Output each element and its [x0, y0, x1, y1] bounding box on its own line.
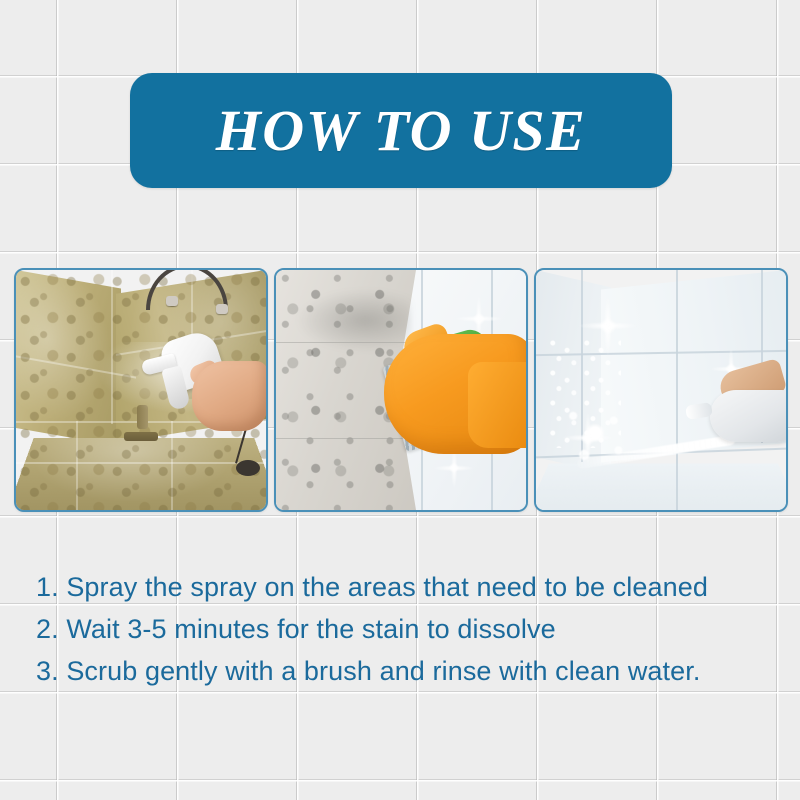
step-1: 1. Spray the spray on the areas that nee…	[36, 566, 776, 608]
tile-grout-line	[676, 270, 678, 510]
spray-bottle-icon	[142, 323, 262, 443]
dirty-grout-line	[276, 438, 406, 439]
page-title: HOW TO USE	[216, 102, 587, 160]
panel-after-clean-tiles	[534, 268, 788, 512]
dirty-grout-line	[276, 342, 406, 343]
infographic-page: HOW TO USE	[0, 0, 800, 800]
hose-fitting	[216, 304, 228, 314]
dirty-shower-scene	[16, 270, 266, 510]
black-disc	[236, 460, 260, 476]
water-splash	[556, 394, 634, 472]
hose-fitting	[166, 296, 178, 306]
how-to-use-banner: HOW TO USE	[130, 73, 672, 188]
panel-before-dirty-shower	[14, 268, 268, 512]
scrubbing-scene	[276, 270, 526, 510]
step-2: 2. Wait 3-5 minutes for the stain to dis…	[36, 608, 776, 650]
instruction-steps: 1. Spray the spray on the areas that nee…	[36, 566, 776, 692]
glove-cuff	[468, 362, 526, 448]
step-3: 3. Scrub gently with a brush and rinse w…	[36, 650, 776, 692]
panel-scrubbing-with-brush	[274, 268, 528, 512]
hand	[192, 361, 266, 431]
step-image-row	[14, 268, 788, 510]
clean-tiles-scene	[536, 270, 786, 510]
spray-nozzle	[710, 390, 786, 442]
